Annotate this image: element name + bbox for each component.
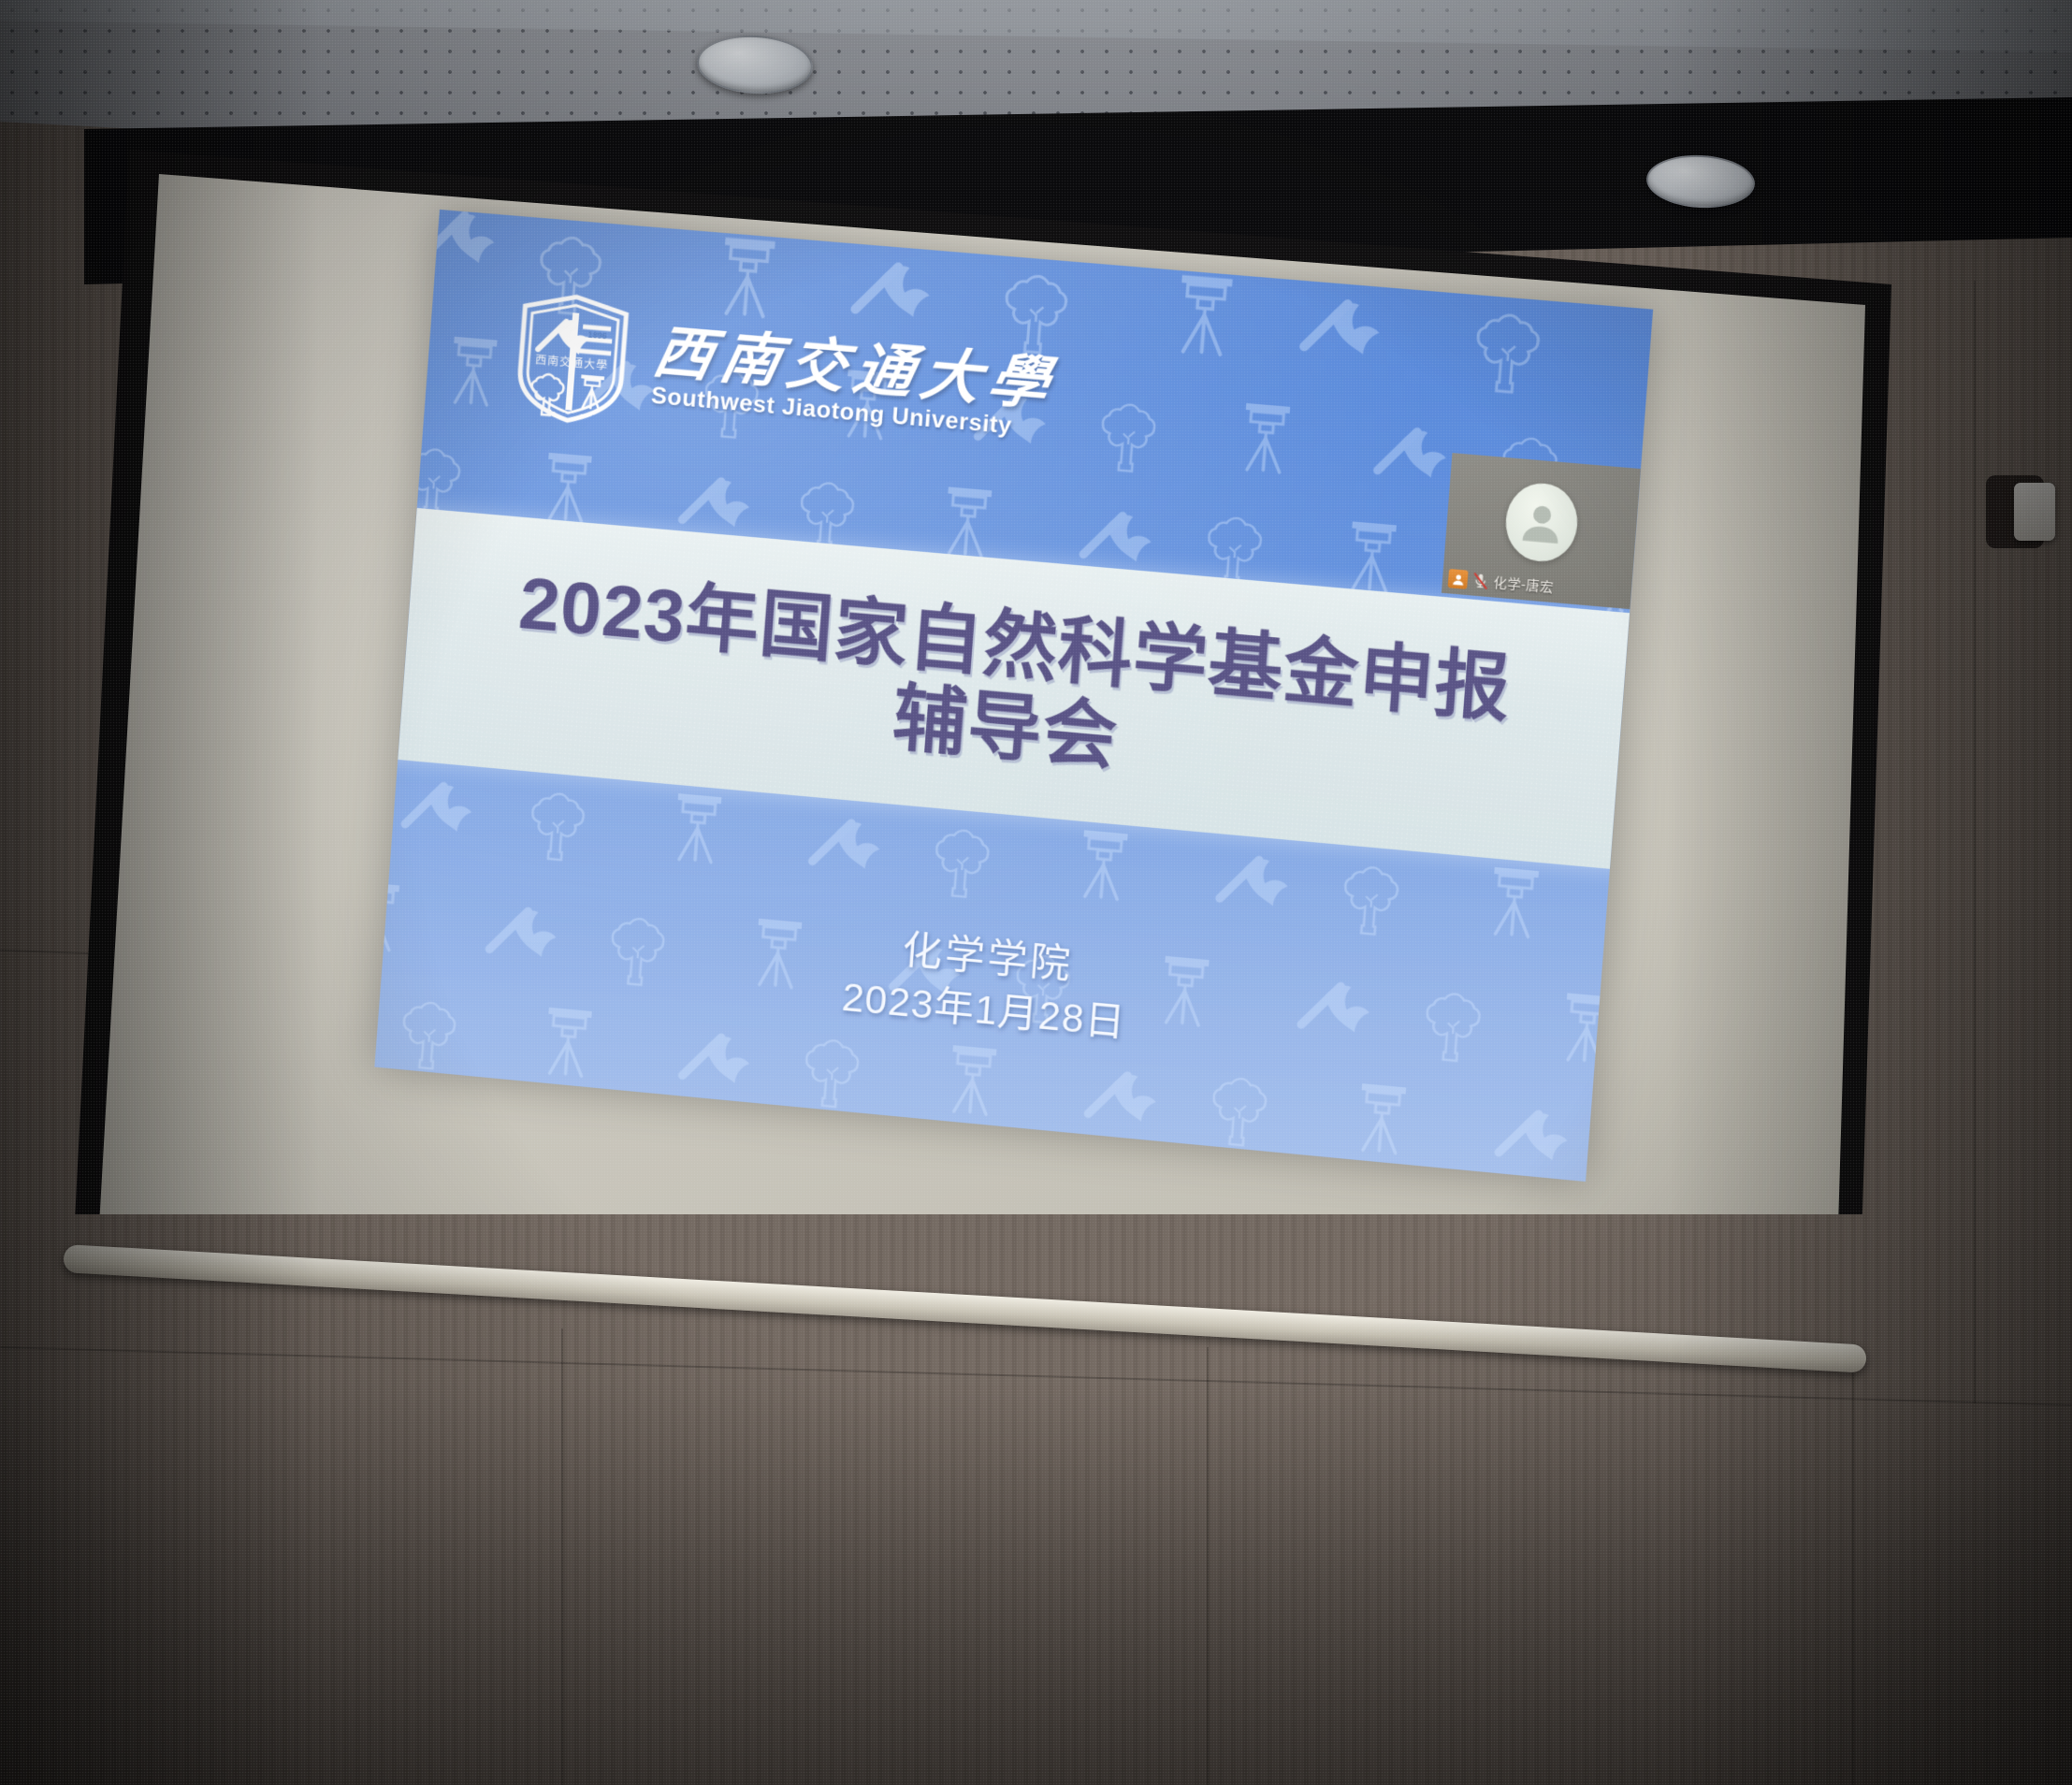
crest-year: 1896 (587, 330, 607, 341)
participant-status-bar: 化学-唐宏 (1448, 569, 1555, 597)
university-crest-icon: 1896 西南交通大學 (510, 289, 633, 428)
slide-title-line-2: 辅导会 (890, 677, 1121, 779)
host-badge-icon (1448, 569, 1469, 589)
meeting-participant-tile[interactable]: 化学-唐宏 (1442, 453, 1641, 609)
room-shadow-bottom (0, 1383, 2072, 1785)
person-avatar-icon (1518, 499, 1566, 546)
university-wordmark: 西南交通大學 Southwest Jiaotong University (650, 324, 1058, 443)
crest-theodolite-icon (579, 374, 604, 410)
microphone-muted-icon (1471, 572, 1489, 590)
participant-name: 化学-唐宏 (1493, 573, 1555, 597)
projected-slide: 1896 西南交通大學 西南交通大學 (374, 210, 1653, 1182)
participant-avatar (1503, 481, 1580, 565)
screenshot-stage: 1896 西南交通大學 西南交通大學 (0, 0, 2072, 1785)
